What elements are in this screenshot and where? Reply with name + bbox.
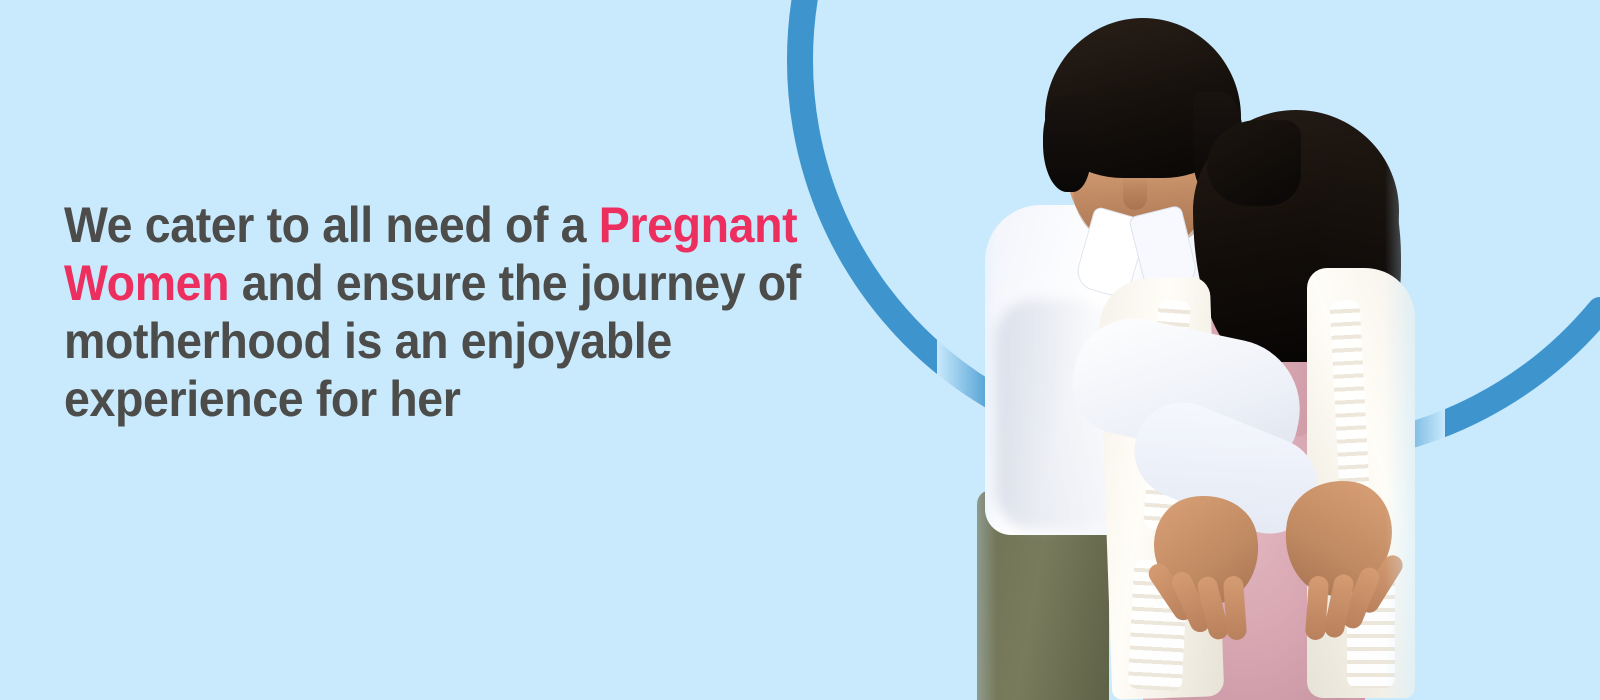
couple-photo: [955, 0, 1425, 700]
man-hair-left: [1043, 96, 1091, 192]
photo-edge-fade-left: [937, 0, 997, 700]
man-nose: [1123, 176, 1147, 210]
photo-edge-fade-right: [1385, 0, 1445, 700]
page-title: We cater to all need of a Pregnant Women…: [64, 196, 827, 428]
headline-part-1: We cater to all need of a: [64, 197, 599, 253]
promo-banner: We cater to all need of a Pregnant Women…: [0, 0, 1600, 700]
woman-hair-front: [1207, 120, 1301, 206]
